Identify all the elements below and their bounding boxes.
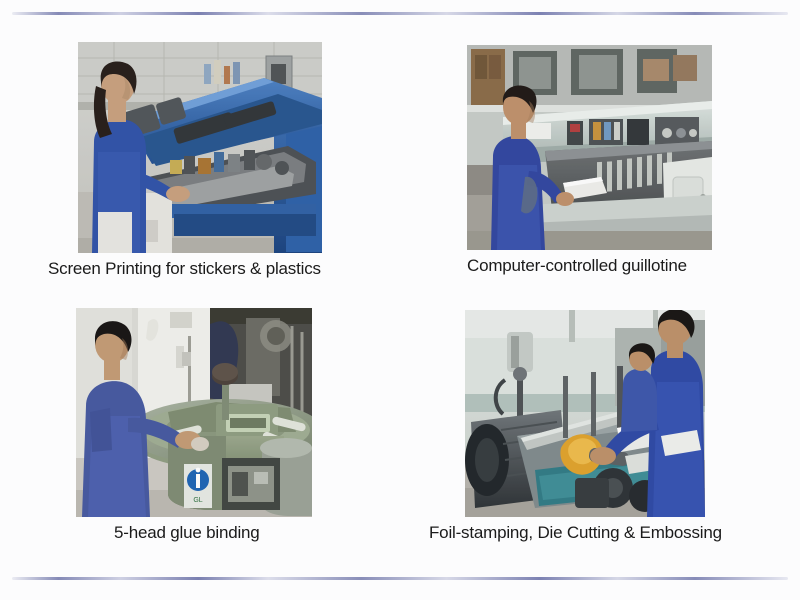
gallery-item-foil-stamping[interactable]: Two workers in blue at a foil stamping, … <box>465 310 705 543</box>
foil-stamping-caption: Foil-stamping, Die Cutting & Embossing <box>429 523 744 543</box>
top-divider-rule <box>12 12 788 15</box>
foil-stamping-photo[interactable]: Two workers in blue at a foil stamping, … <box>465 310 705 517</box>
gallery-item-glue-binding[interactable]: Man in blue shirt working at a circular … <box>76 308 312 543</box>
gallery-item-guillotine[interactable]: Man in blue shirt standing at a long com… <box>467 45 712 276</box>
gallery-item-screen-printing[interactable]: Woman in blue uniform operating a large … <box>78 42 322 279</box>
screen-printing-photo[interactable]: Woman in blue uniform operating a large … <box>78 42 322 253</box>
guillotine-caption: Computer-controlled guillotine <box>467 256 720 276</box>
slide-canvas: Woman in blue uniform operating a large … <box>0 0 800 600</box>
screen-printing-caption: Screen Printing for stickers & plastics <box>48 259 348 279</box>
guillotine-photo[interactable]: Man in blue shirt standing at a long com… <box>467 45 712 250</box>
glue-binding-caption: 5-head glue binding <box>114 523 274 543</box>
glue-binding-photo[interactable]: Man in blue shirt working at a circular … <box>76 308 312 517</box>
bottom-divider-rule <box>12 577 788 580</box>
